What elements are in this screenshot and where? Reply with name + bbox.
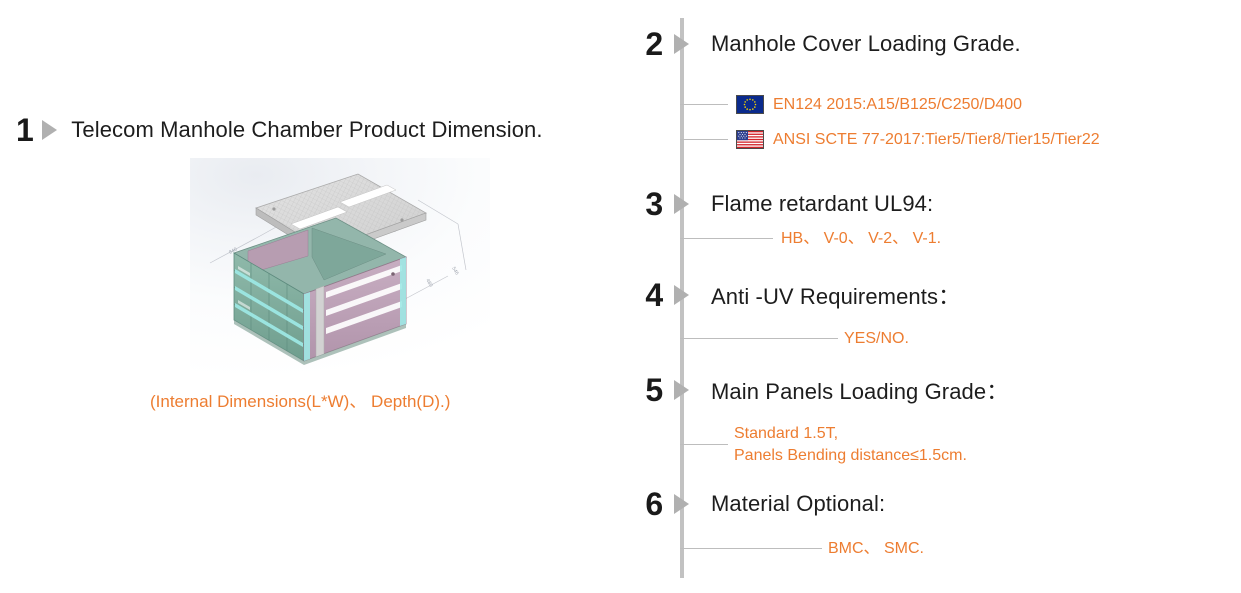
item-4-title: Anti -UV Requirements： xyxy=(711,279,960,311)
item-5-heading: 5 Main Panels Loading Grade： xyxy=(640,372,1008,408)
us-flag-icon xyxy=(736,130,764,149)
item-4-sub-1-text: YES/NO. xyxy=(844,328,909,350)
triangle-right-icon xyxy=(674,285,689,305)
item-2-sub-1-text: EN124 2015:A15/B125/C250/D400 xyxy=(773,94,1022,116)
item-3-title: Flame retardant UL94: xyxy=(711,191,933,217)
leader-line xyxy=(680,238,773,239)
svg-text:546: 546 xyxy=(450,266,460,276)
right-column: 2 Manhole Cover Loading Grade. xyxy=(632,0,1241,593)
triangle-right-icon xyxy=(674,380,689,400)
item-2-sub-1: EN124 2015:A15/B125/C250/D400 xyxy=(680,94,1022,116)
eu-flag-icon xyxy=(736,95,764,114)
triangle-right-icon xyxy=(674,34,689,54)
item-6-sub-1-text: BMC、 SMC. xyxy=(828,538,924,560)
svg-text:480: 480 xyxy=(424,278,434,288)
item-6-heading: 6 Material Optional: xyxy=(640,486,885,522)
item-6-title: Material Optional: xyxy=(711,491,885,517)
item-6-sub-1: BMC、 SMC. xyxy=(680,538,924,560)
item-5-sub-1: Standard 1.5T, Panels Bending distance≤1… xyxy=(680,423,967,466)
item-4-heading: 4 Anti -UV Requirements： xyxy=(640,277,960,313)
triangle-right-icon xyxy=(674,194,689,214)
left-column: 1 Telecom Manhole Chamber Product Dimens… xyxy=(0,0,632,593)
item-2-title: Manhole Cover Loading Grade. xyxy=(711,31,1021,57)
item-1-title: Telecom Manhole Chamber Product Dimensio… xyxy=(71,117,542,143)
triangle-right-icon xyxy=(674,494,689,514)
item-1-heading: 1 Telecom Manhole Chamber Product Dimens… xyxy=(16,110,543,150)
cad-render-caption: (Internal Dimensions(L*W)、 Depth(D).) xyxy=(150,387,570,412)
item-6-number: 6 xyxy=(640,488,668,520)
item-5-sub-1-text: Standard 1.5T, Panels Bending distance≤1… xyxy=(734,423,967,466)
item-5-title: Main Panels Loading Grade： xyxy=(711,374,1008,406)
item-3-number: 3 xyxy=(640,188,668,220)
item-3-heading: 3 Flame retardant UL94: xyxy=(640,186,933,222)
leader-line xyxy=(680,444,728,445)
item-1-number: 1 xyxy=(16,114,33,146)
telecom-manhole-chamber-3d-render: 840 750 480 546 xyxy=(190,158,490,373)
item-2-sub-2: ANSI SCTE 77-2017:Tier5/Tier8/Tier15/Tie… xyxy=(680,129,1100,151)
item-3-sub-1: HB、 V-0、 V-2、 V-1. xyxy=(680,228,941,250)
item-4-sub-1: YES/NO. xyxy=(680,328,909,350)
leader-line xyxy=(680,139,728,140)
item-2-sub-2-text: ANSI SCTE 77-2017:Tier5/Tier8/Tier15/Tie… xyxy=(773,129,1100,151)
leader-line xyxy=(680,104,728,105)
leader-line xyxy=(680,338,838,339)
item-3-sub-1-text: HB、 V-0、 V-2、 V-1. xyxy=(781,228,941,250)
leader-line xyxy=(680,548,822,549)
item-5-number: 5 xyxy=(640,374,668,406)
item-2-number: 2 xyxy=(640,28,668,60)
item-2-heading: 2 Manhole Cover Loading Grade. xyxy=(640,26,1021,62)
triangle-right-icon xyxy=(42,120,57,140)
item-4-number: 4 xyxy=(640,279,668,311)
